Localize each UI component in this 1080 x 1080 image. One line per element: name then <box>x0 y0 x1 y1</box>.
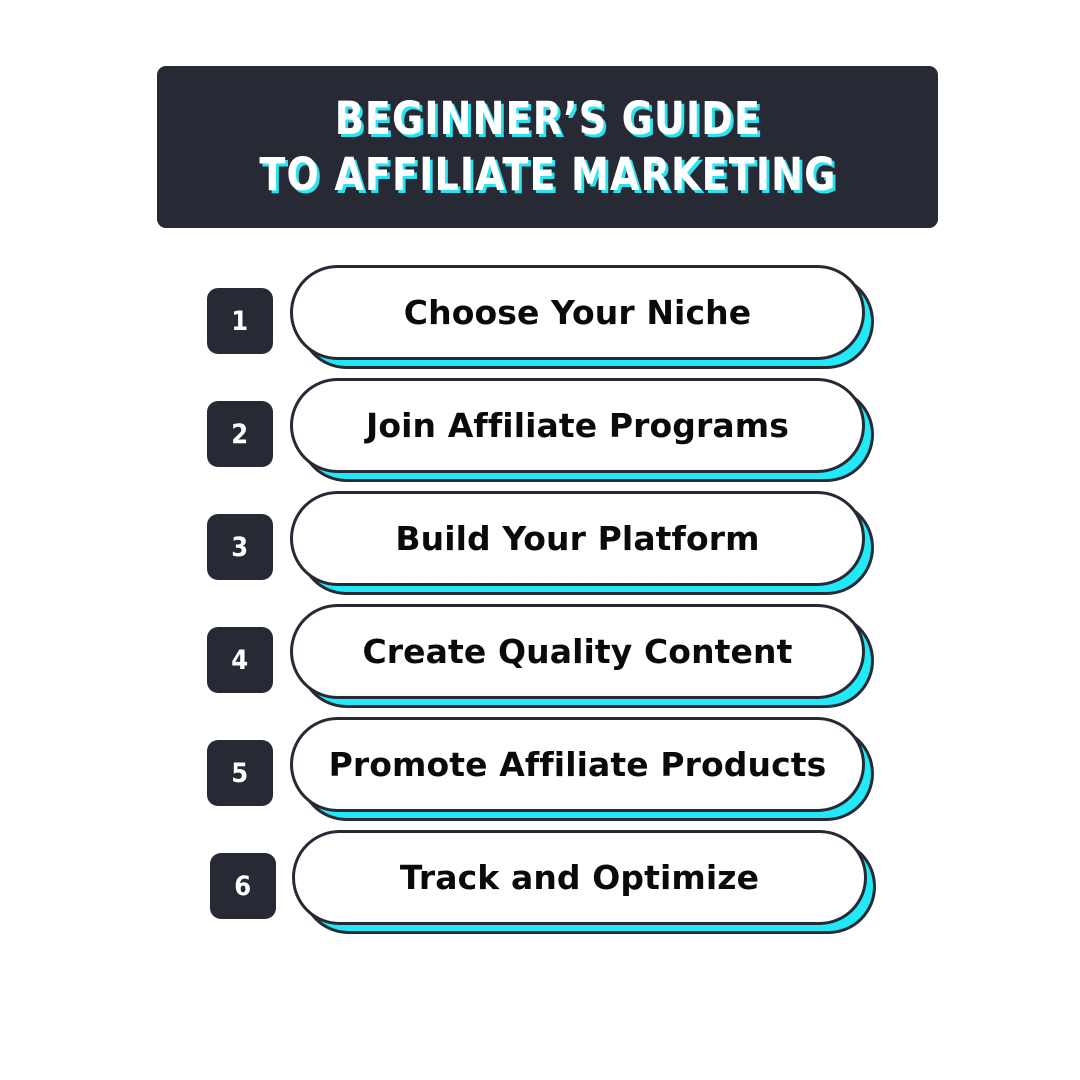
step-number-badge: 4 <box>207 627 273 693</box>
step-card[interactable]: Track and Optimize <box>292 830 867 935</box>
step-label: Create Quality Content <box>362 632 792 671</box>
step-card[interactable]: Choose Your Niche <box>290 265 865 370</box>
step-number: 6 <box>234 871 251 902</box>
step-number-badge: 6 <box>210 853 276 919</box>
step-number-badge: 2 <box>207 401 273 467</box>
list-item[interactable]: 2 Join Affiliate Programs <box>0 378 1080 491</box>
step-number: 4 <box>231 645 248 676</box>
card-surface[interactable]: Track and Optimize <box>292 830 867 925</box>
step-number: 3 <box>231 532 248 563</box>
step-label: Promote Affiliate Products <box>329 745 827 784</box>
step-number: 5 <box>231 758 248 789</box>
step-card[interactable]: Promote Affiliate Products <box>290 717 865 822</box>
card-surface[interactable]: Choose Your Niche <box>290 265 865 360</box>
step-label: Choose Your Niche <box>404 293 751 332</box>
card-surface[interactable]: Join Affiliate Programs <box>290 378 865 473</box>
infographic-poster: BEGINNER’S GUIDE TO AFFILIATE MARKETING … <box>0 0 1080 1080</box>
step-number-badge: 3 <box>207 514 273 580</box>
list-item[interactable]: 5 Promote Affiliate Products <box>0 717 1080 830</box>
list-item[interactable]: 3 Build Your Platform <box>0 491 1080 604</box>
step-number-badge: 5 <box>207 740 273 806</box>
list-item[interactable]: 1 Choose Your Niche <box>0 265 1080 378</box>
step-number: 1 <box>231 306 248 337</box>
step-label: Build Your Platform <box>395 519 759 558</box>
header-panel: BEGINNER’S GUIDE TO AFFILIATE MARKETING <box>157 66 938 228</box>
step-number: 2 <box>231 419 248 450</box>
card-surface[interactable]: Promote Affiliate Products <box>290 717 865 812</box>
card-surface[interactable]: Create Quality Content <box>290 604 865 699</box>
list-item[interactable]: 4 Create Quality Content <box>0 604 1080 717</box>
step-number-badge: 1 <box>207 288 273 354</box>
step-label: Join Affiliate Programs <box>366 406 789 445</box>
card-surface[interactable]: Build Your Platform <box>290 491 865 586</box>
step-card[interactable]: Create Quality Content <box>290 604 865 709</box>
step-label: Track and Optimize <box>400 858 759 897</box>
page-title: BEGINNER’S GUIDE TO AFFILIATE MARKETING <box>259 91 836 203</box>
steps-list: 1 Choose Your Niche 2 Join Affiliate Pro… <box>0 265 1080 943</box>
step-card[interactable]: Join Affiliate Programs <box>290 378 865 483</box>
list-item[interactable]: 6 Track and Optimize <box>0 830 1080 943</box>
step-card[interactable]: Build Your Platform <box>290 491 865 596</box>
